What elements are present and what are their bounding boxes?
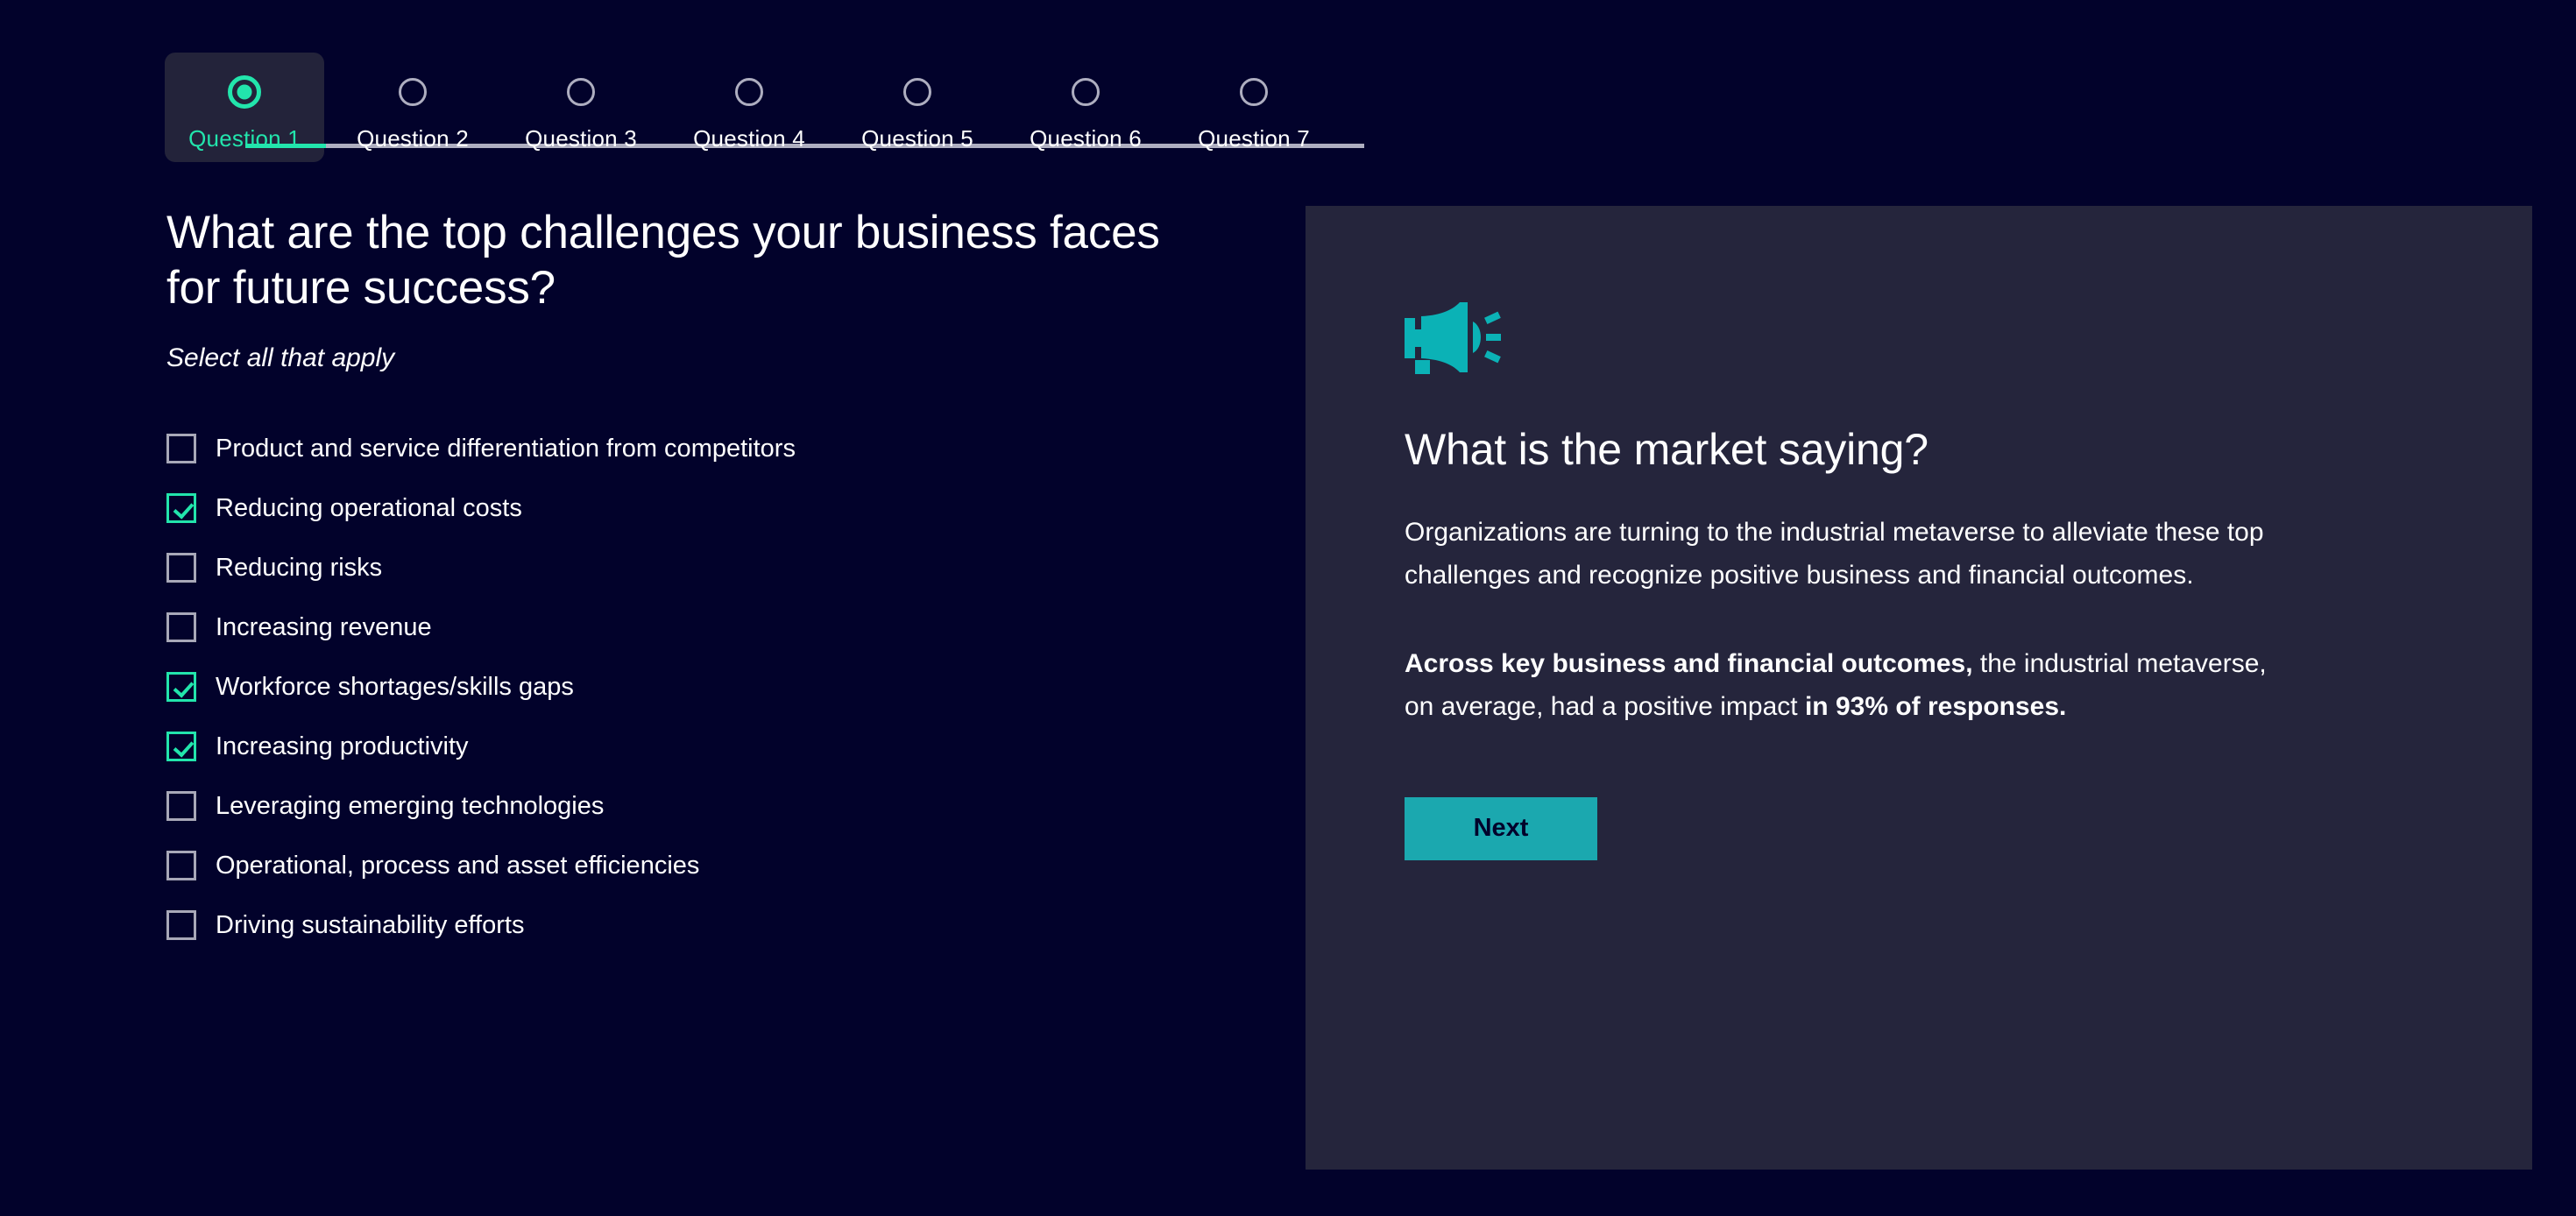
stepper-item-7[interactable]: Question 7 bbox=[1174, 53, 1334, 162]
checkbox-unchecked-icon[interactable] bbox=[166, 910, 196, 940]
options-list: Product and service differentiation from… bbox=[166, 419, 1244, 955]
stepper-item-6[interactable]: Question 6 bbox=[1006, 53, 1165, 162]
step-dot-icon bbox=[399, 78, 427, 106]
next-button[interactable]: Next bbox=[1405, 797, 1597, 860]
stepper-item-2[interactable]: Question 2 bbox=[333, 53, 492, 162]
option-label: Reducing operational costs bbox=[216, 496, 522, 521]
checkbox-checked-icon[interactable] bbox=[166, 493, 196, 523]
option-row[interactable]: Product and service differentiation from… bbox=[166, 419, 1244, 478]
checkbox-checked-icon[interactable] bbox=[166, 732, 196, 761]
stepper-item-label: Question 6 bbox=[1006, 125, 1165, 152]
checkbox-unchecked-icon[interactable] bbox=[166, 434, 196, 463]
option-label: Reducing risks bbox=[216, 555, 382, 581]
stepper-item-4[interactable]: Question 4 bbox=[669, 53, 829, 162]
option-label: Leveraging emerging technologies bbox=[216, 794, 604, 819]
checkbox-unchecked-icon[interactable] bbox=[166, 791, 196, 821]
option-label: Workforce shortages/skills gaps bbox=[216, 675, 574, 700]
step-dot-icon bbox=[735, 78, 763, 106]
question-hint: Select all that apply bbox=[166, 343, 1244, 373]
option-row[interactable]: Driving sustainability efforts bbox=[166, 895, 1244, 955]
stepper-item-5[interactable]: Question 5 bbox=[838, 53, 997, 162]
market-insight-panel: What is the market saying? Organizations… bbox=[1306, 206, 2532, 1170]
stepper-item-label: Question 1 bbox=[165, 125, 324, 152]
step-dot-icon bbox=[1240, 78, 1268, 106]
megaphone-icon bbox=[1405, 302, 2368, 378]
option-label: Operational, process and asset efficienc… bbox=[216, 853, 699, 879]
stepper-item-label: Question 7 bbox=[1174, 125, 1334, 152]
checkbox-unchecked-icon[interactable] bbox=[166, 553, 196, 583]
option-row[interactable]: Leveraging emerging technologies bbox=[166, 776, 1244, 836]
checkbox-unchecked-icon[interactable] bbox=[166, 851, 196, 880]
stepper-item-3[interactable]: Question 3 bbox=[501, 53, 661, 162]
stepper-item-label: Question 2 bbox=[333, 125, 492, 152]
panel-stat-paragraph: Across key business and financial outcom… bbox=[1405, 643, 2289, 729]
option-row[interactable]: Operational, process and asset efficienc… bbox=[166, 836, 1244, 895]
survey-page: Question 1Question 2Question 3Question 4… bbox=[0, 0, 2576, 1216]
option-row[interactable]: Increasing revenue bbox=[166, 597, 1244, 657]
step-dot-icon bbox=[567, 78, 595, 106]
step-dot-icon bbox=[903, 78, 931, 106]
panel-paragraph: Organizations are turning to the industr… bbox=[1405, 512, 2289, 597]
question-column: What are the top challenges your busines… bbox=[166, 206, 1244, 955]
stepper-item-label: Question 3 bbox=[501, 125, 661, 152]
page-title: What are the top challenges your busines… bbox=[166, 206, 1200, 315]
panel-title: What is the market saying? bbox=[1405, 424, 2368, 475]
option-label: Increasing revenue bbox=[216, 615, 432, 640]
option-label: Driving sustainability efforts bbox=[216, 913, 524, 938]
stepper-item-label: Question 5 bbox=[838, 125, 997, 152]
option-row[interactable]: Reducing operational costs bbox=[166, 478, 1244, 538]
option-row[interactable]: Increasing productivity bbox=[166, 717, 1244, 776]
option-label: Product and service differentiation from… bbox=[216, 436, 796, 462]
stepper-item-label: Question 4 bbox=[669, 125, 829, 152]
option-row[interactable]: Workforce shortages/skills gaps bbox=[166, 657, 1244, 717]
step-dot-icon bbox=[1072, 78, 1100, 106]
stepper-item-1[interactable]: Question 1 bbox=[165, 53, 324, 162]
stepper-items: Question 1Question 2Question 3Question 4… bbox=[165, 53, 1282, 162]
stat-trail-bold: in 93% of responses. bbox=[1805, 692, 2066, 721]
checkbox-checked-icon[interactable] bbox=[166, 672, 196, 702]
checkbox-unchecked-icon[interactable] bbox=[166, 612, 196, 642]
step-dot-icon bbox=[228, 75, 261, 109]
stat-lead-bold: Across key business and financial outcom… bbox=[1405, 649, 1973, 678]
question-stepper: Question 1Question 2Question 3Question 4… bbox=[165, 53, 1242, 162]
option-label: Increasing productivity bbox=[216, 734, 469, 760]
option-row[interactable]: Reducing risks bbox=[166, 538, 1244, 597]
